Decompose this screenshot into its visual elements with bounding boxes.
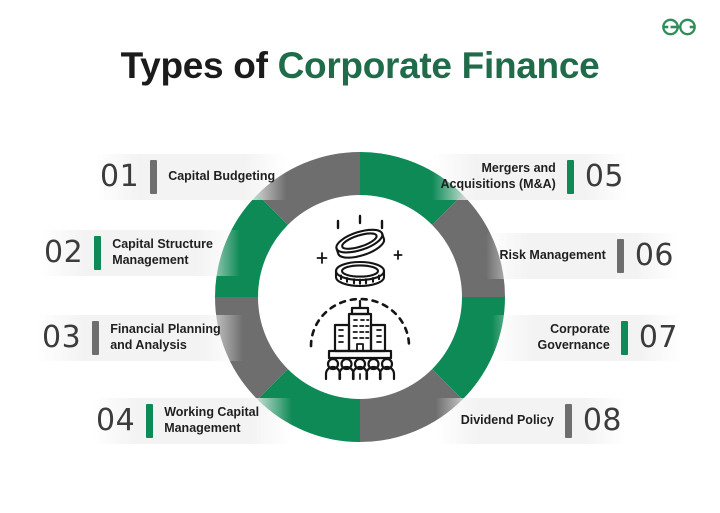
item-number-06: 06 (635, 241, 674, 271)
item-label-03: Financial Planning and Analysis (110, 322, 220, 353)
geeksforgeeks-logo (656, 14, 702, 40)
title-part-dark: Types of (121, 45, 268, 86)
item-bar-08 (565, 404, 572, 438)
item-number-08: 08 (583, 406, 622, 436)
list-item-05[interactable]: Mergers and Acquisitions (M&A) 05 (432, 154, 628, 200)
item-bar-06 (617, 239, 624, 273)
item-number-07: 07 (639, 323, 678, 353)
item-number-05: 05 (585, 162, 624, 192)
item-label-07: Corporate Governance (538, 322, 610, 353)
item-bar-02 (94, 236, 101, 270)
item-number-01: 01 (100, 162, 139, 192)
item-label-05: Mergers and Acquisitions (M&A) (441, 161, 556, 192)
item-label-06: Risk Management (500, 248, 606, 264)
item-label-08: Dividend Policy (461, 413, 554, 429)
list-item-07[interactable]: Corporate Governance 07 (492, 315, 682, 361)
list-item-03[interactable]: 03 Financial Planning and Analysis (38, 315, 243, 361)
stacked-coins-icon (314, 213, 406, 295)
list-item-08[interactable]: Dividend Policy 08 (436, 398, 626, 444)
item-label-02: Capital Structure Management (112, 237, 213, 268)
item-number-02: 02 (44, 238, 83, 268)
item-bar-01 (150, 160, 157, 194)
title-part-green: Corporate Finance (278, 45, 600, 86)
item-number-04: 04 (96, 406, 135, 436)
item-bar-05 (567, 160, 574, 194)
infographic-canvas: Types of Corporate Finance (0, 0, 720, 513)
list-item-02[interactable]: 02 Capital Structure Management (40, 230, 240, 276)
corporate-building-people-icon (305, 297, 415, 381)
item-bar-03 (92, 321, 99, 355)
item-label-01: Capital Budgeting (168, 169, 275, 185)
item-number-03: 03 (42, 323, 81, 353)
list-item-04[interactable]: 04 Working Capital Management (92, 398, 292, 444)
center-icon-group (294, 213, 426, 381)
page-title: Types of Corporate Finance (0, 46, 720, 86)
list-item-01[interactable]: 01 Capital Budgeting (96, 154, 286, 200)
item-label-04: Working Capital Management (164, 405, 259, 436)
item-bar-07 (621, 321, 628, 355)
list-item-06[interactable]: Risk Management 06 (486, 233, 678, 279)
item-bar-04 (146, 404, 153, 438)
